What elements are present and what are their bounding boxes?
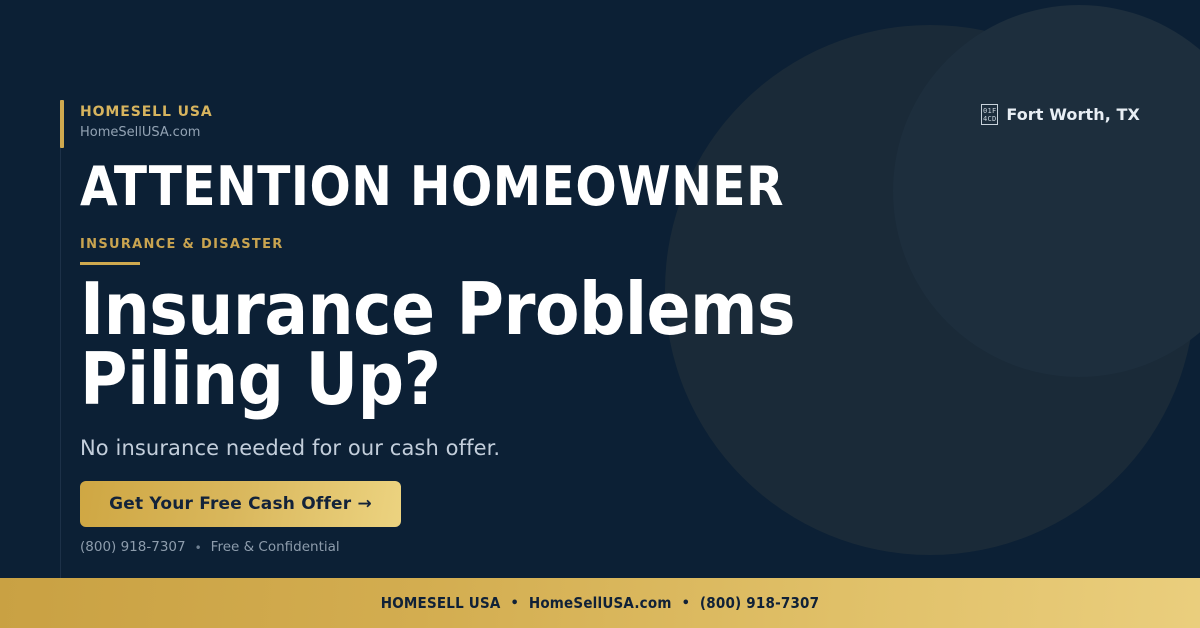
attention-headline: ATTENTION HOMEOWNER: [80, 160, 784, 214]
footer-brand: HOMESELL USA: [381, 594, 501, 612]
headline-line-2: Piling Up?: [80, 337, 441, 421]
content-area: HOMESELL USA HomeSellUSA.com ATTENTION H…: [80, 0, 980, 578]
eyebrow-underline: [80, 262, 140, 265]
brand-name: HOMESELL USA: [80, 105, 213, 119]
location-label: Fort Worth, TX: [1006, 105, 1140, 124]
brand-block: HOMESELL USA HomeSellUSA.com: [80, 105, 213, 139]
map-pin-icon-codepoint-lower: 4CD: [983, 115, 997, 123]
contact-line: (800) 918-7307 • Free & Confidential: [80, 541, 340, 555]
subheadline: No insurance needed for our cash offer.: [80, 436, 500, 461]
advertisement-banner: 01F 4CD Fort Worth, TX HOMESELL USA Home…: [0, 0, 1200, 628]
contact-separator-icon: •: [195, 542, 202, 554]
page-title: Insurance Problems Piling Up?: [80, 274, 840, 414]
footer-website[interactable]: HomeSellUSA.com: [529, 594, 672, 612]
footer-separator-icon-1: •: [511, 596, 519, 611]
contact-phone[interactable]: (800) 918-7307: [80, 541, 186, 555]
footer-separator-icon-2: •: [682, 596, 690, 611]
location-badge: 01F 4CD Fort Worth, TX: [981, 104, 1140, 125]
category-eyebrow: INSURANCE & DISASTER: [80, 238, 284, 251]
left-vertical-rule: [60, 100, 61, 580]
footer-bar: HOMESELL USA • HomeSellUSA.com • (800) 9…: [0, 578, 1200, 628]
map-pin-icon: 01F 4CD: [981, 104, 998, 125]
brand-website: HomeSellUSA.com: [80, 126, 213, 139]
footer-phone[interactable]: (800) 918-7307: [700, 594, 819, 612]
get-free-cash-offer-button[interactable]: Get Your Free Cash Offer →: [80, 481, 401, 527]
gold-accent-bar: [60, 100, 64, 148]
map-pin-icon-codepoint-upper: 01F: [983, 107, 997, 115]
contact-note: Free & Confidential: [211, 541, 340, 555]
